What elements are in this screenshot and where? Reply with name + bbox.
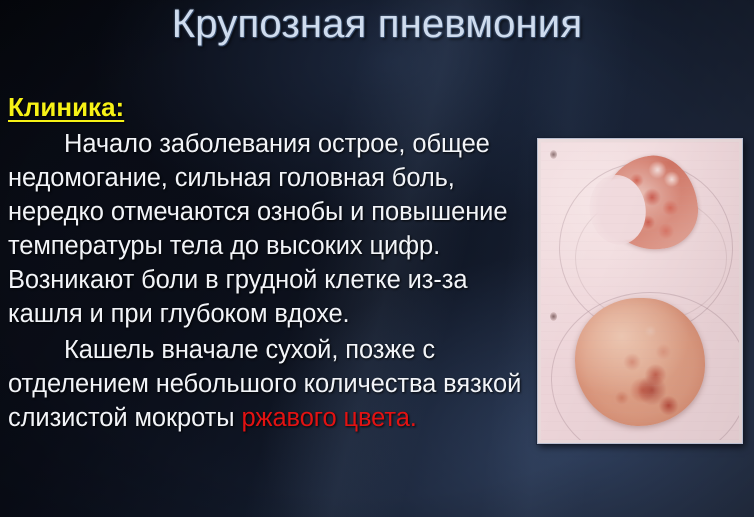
slide-title: Крупозная пневмония (0, 2, 754, 47)
photo-texture (541, 142, 739, 440)
slide-content: Клиника: Начало заболевания острое, обще… (8, 92, 538, 435)
paragraph-onset: Начало заболевания острое, общее недомог… (8, 127, 538, 331)
rust-colored-sputum-highlight: ржавого цвета. (241, 404, 416, 432)
presentation-slide: Крупозная пневмония Клиника: Начало забо… (0, 0, 754, 517)
photo-plate (541, 142, 739, 440)
lung-specimen-photo (537, 138, 743, 444)
section-heading-clinic: Клиника: (8, 92, 142, 123)
paragraph-cough: Кашель вначале сухой, позже с отделением… (8, 333, 538, 435)
